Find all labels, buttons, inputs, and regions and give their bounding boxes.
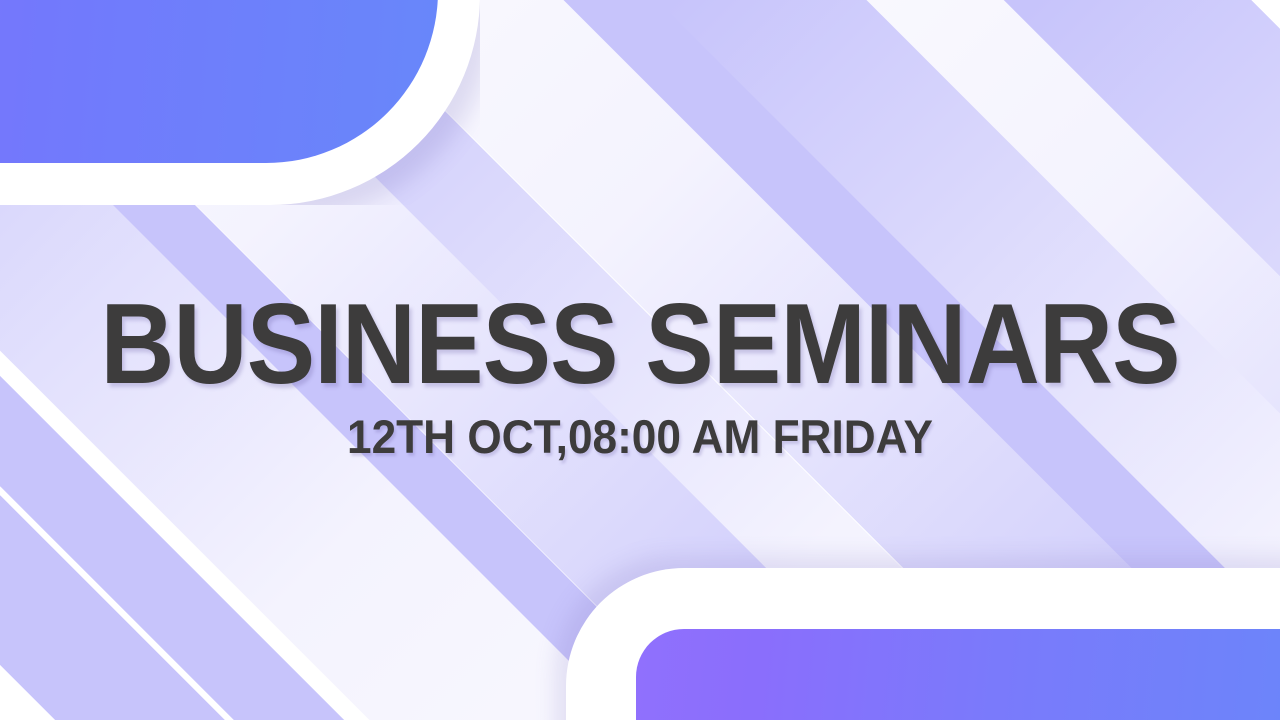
poster-title: BUSINESS SEMINARS [64,288,1216,402]
text-layer: BUSINESS SEMINARS 12TH OCT,08:00 AM FRID… [0,0,1280,720]
event-poster: BUSINESS SEMINARS 12TH OCT,08:00 AM FRID… [0,0,1280,720]
poster-subtitle: 12TH OCT,08:00 AM FRIDAY [38,413,1241,460]
